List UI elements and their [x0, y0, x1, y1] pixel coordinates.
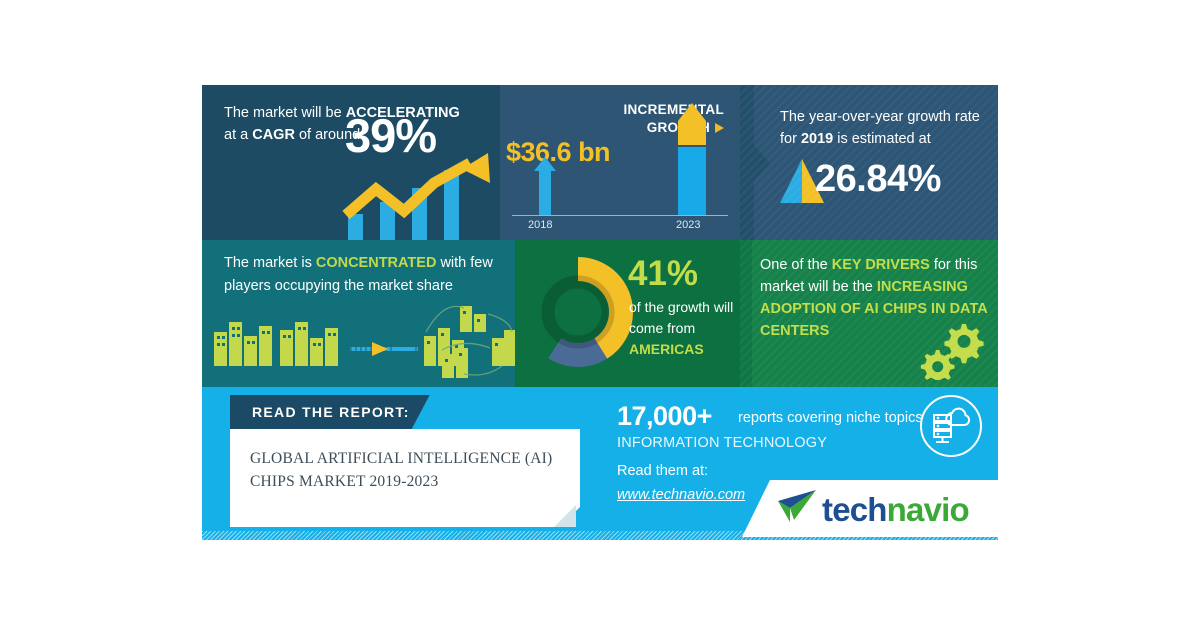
yoy-text-2: for: [780, 131, 801, 147]
technavio-arrow-icon: [774, 488, 820, 528]
website-url-link[interactable]: www.technavio.com: [617, 487, 745, 503]
yoy-description: The year-over-year growth rate for 2019 …: [780, 106, 990, 150]
key-drivers-panel: One of the KEY DRIVERS for this market w…: [740, 240, 998, 387]
infographic-body: The market will be ACCELERATING at a CAG…: [202, 85, 998, 540]
cagr-trend-chart: [342, 153, 500, 240]
conc-text-1: The market is: [224, 255, 316, 271]
drivers-text-3: market will be the: [760, 279, 877, 295]
drivers-text-2: for this: [930, 257, 978, 273]
americas-region-label: AMERICAS: [629, 341, 704, 357]
incremental-growth-panel: INCREMENTAL GROWTH $36.6 bn 2018 2023: [500, 85, 740, 240]
technavio-logo-text: technavio: [822, 491, 969, 529]
year-label-start: 2018: [528, 219, 552, 231]
yoy-growth-value: 26.84%: [815, 158, 941, 201]
market-concentration-panel: The market is CONCENTRATED with few play…: [202, 240, 515, 387]
incremental-growth-columns: [500, 85, 740, 240]
gears-icon: [918, 318, 988, 380]
americas-share-panel: 41% of the growth will come from AMERICA…: [515, 240, 740, 387]
conc-text-3: players occupying the market share: [224, 278, 453, 294]
conc-text-bold: CONCENTRATED: [316, 255, 437, 271]
industry-vertical: INFORMATION TECHNOLOGY: [617, 435, 827, 451]
yoy-growth-panel: The year-over-year growth rate for 2019 …: [740, 85, 998, 240]
americas-caption-2: come from: [629, 320, 695, 336]
trend-arrow-icon: [342, 153, 500, 240]
logo-text-part1: tech: [822, 491, 887, 528]
footer-bar: READ THE REPORT: GLOBAL ARTIFICIAL INTEL…: [202, 387, 998, 540]
incremental-axis-line: [512, 215, 728, 216]
cagr-text-2: at a: [224, 127, 252, 143]
yoy-year: 2019: [801, 131, 833, 147]
report-count: 17,000+: [617, 401, 712, 432]
report-title: GLOBAL ARTIFICIAL INTELLIGENCE (AI) CHIP…: [250, 447, 562, 493]
page-fold-corner-icon: [554, 505, 580, 531]
americas-share-caption: of the growth will come from AMERICAS: [629, 297, 739, 360]
cagr-text-bold-2: CAGR: [252, 127, 295, 143]
read-them-at-label: Read them at:: [617, 463, 708, 479]
report-count-caption: reports covering niche topics: [738, 410, 923, 426]
year-label-end: 2023: [676, 219, 700, 231]
yoy-text-3: is estimated at: [833, 131, 931, 147]
conc-text-2: with few: [436, 255, 492, 271]
americas-caption-1: of the growth will: [629, 299, 733, 315]
americas-share-donut: [523, 257, 633, 367]
concentration-description: The market is CONCENTRATED with few play…: [224, 252, 514, 298]
read-the-report-tab[interactable]: READ THE REPORT:: [230, 395, 430, 429]
report-card[interactable]: GLOBAL ARTIFICIAL INTELLIGENCE (AI) CHIP…: [230, 429, 580, 527]
yoy-text-1: The year-over-year growth rate: [780, 109, 980, 125]
cagr-text-1: The market will be: [224, 105, 346, 121]
cloud-server-icon: [922, 397, 975, 450]
americas-share-value: 41%: [628, 254, 698, 294]
drivers-text-bold-1: KEY DRIVERS: [832, 257, 930, 273]
drivers-text-1: One of the: [760, 257, 832, 273]
cloud-server-badge: [920, 395, 982, 457]
city-concentration-illustration: [202, 302, 515, 382]
infographic-canvas: The market will be ACCELERATING at a CAG…: [0, 0, 1200, 627]
cagr-panel: The market will be ACCELERATING at a CAG…: [202, 85, 500, 240]
logo-text-part2: navio: [887, 491, 969, 528]
